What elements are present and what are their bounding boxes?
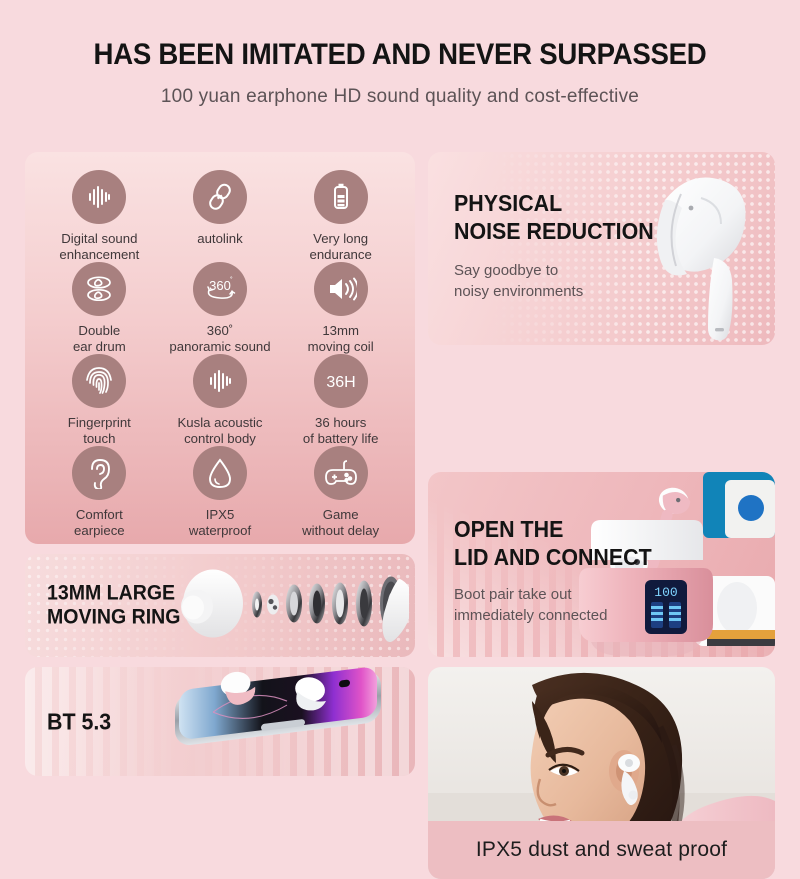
lid-connect-subtitle: Boot pair take out immediately connected (454, 584, 607, 627)
bluetooth-title: BT 5.3 (47, 708, 111, 735)
double-eardrum-icon (72, 262, 126, 316)
svg-text:˚: ˚ (230, 276, 233, 285)
noise-reduction-title: PHYSICAL NOISE REDUCTION (454, 190, 654, 245)
sound-wave-icon (72, 170, 126, 224)
feature-label: 360˚ panoramic sound (169, 323, 270, 354)
feature-item: Comfort earpiece (39, 446, 160, 538)
fingerprint-icon (72, 354, 126, 408)
feature-label: Digital sound enhancement (59, 231, 139, 262)
page-header: HAS BEEN IMITATED AND NEVER SURPASSED 10… (0, 0, 800, 108)
exploded-driver-image (177, 560, 409, 651)
battery-icon (314, 170, 368, 224)
svg-text:36H: 36H (326, 374, 355, 391)
lid-connect-title: OPEN THE LID AND CONNECT (454, 516, 652, 571)
feature-label: Comfort earpiece (74, 507, 125, 538)
moving-ring-panel: 13MM LARGE MOVING RING (25, 554, 415, 657)
feature-item: IPX5 waterproof (160, 446, 281, 538)
sound-wave-icon (193, 354, 247, 408)
bluetooth-panel: BT 5.3 (25, 667, 415, 776)
page-title: HAS BEEN IMITATED AND NEVER SURPASSED (32, 38, 768, 72)
feature-label: Very long endurance (309, 231, 371, 262)
feature-item: Game without delay (280, 446, 401, 538)
gamepad-icon (314, 446, 368, 500)
feature-label: 36 hours of battery life (303, 415, 379, 446)
feature-label: Kusla acoustic control body (177, 415, 262, 446)
phone-with-earbuds-image (153, 667, 401, 776)
lid-connect-panel: OPEN THE LID AND CONNECT Boot pair take … (428, 472, 775, 657)
feature-label: Fingerprint touch (68, 415, 131, 446)
feature-item: autolink (160, 170, 281, 262)
ear-icon (72, 446, 126, 500)
moving-ring-title: 13MM LARGE MOVING RING (47, 581, 180, 630)
feature-grid: Digital sound enhancement autolink Very … (39, 170, 401, 534)
page-subtitle: 100 yuan earphone HD sound quality and c… (0, 86, 800, 108)
water-drop-icon (193, 446, 247, 500)
ipx5-photo-panel: IPX5 dust and sweat proof (428, 667, 775, 879)
noise-reduction-panel: PHYSICAL NOISE REDUCTION Say goodbye to … (428, 152, 775, 345)
chain-link-icon (193, 170, 247, 224)
feature-label: Game without delay (302, 507, 379, 538)
feature-label: 13mm moving coil (308, 323, 374, 354)
feature-item: Very long endurance (280, 170, 401, 262)
feature-item: 360 ˚ 360˚ panoramic sound (160, 262, 281, 354)
feature-item: Fingerprint touch (39, 354, 160, 446)
feature-item: Double ear drum (39, 262, 160, 354)
feature-label: Double ear drum (73, 323, 126, 354)
36h-text-icon: 36H (314, 354, 368, 408)
feature-item: 36H36 hours of battery life (280, 354, 401, 446)
white-earbud-image (615, 154, 767, 345)
feature-item: 13mm moving coil (280, 262, 401, 354)
360-degree-icon: 360 ˚ (193, 262, 247, 316)
svg-text:360: 360 (209, 278, 231, 293)
feature-item: Kusla acoustic control body (160, 354, 281, 446)
feature-label: autolink (197, 231, 242, 247)
feature-grid-panel: Digital sound enhancement autolink Very … (25, 152, 415, 544)
svg-text:100: 100 (654, 585, 677, 600)
content-grid: Digital sound enhancement autolink Very … (25, 152, 775, 772)
ipx5-caption: IPX5 dust and sweat proof (428, 821, 775, 879)
speaker-icon (314, 262, 368, 316)
feature-label: IPX5 waterproof (189, 507, 251, 538)
feature-item: Digital sound enhancement (39, 170, 160, 262)
noise-reduction-subtitle: Say goodbye to noisy environments (454, 260, 583, 303)
